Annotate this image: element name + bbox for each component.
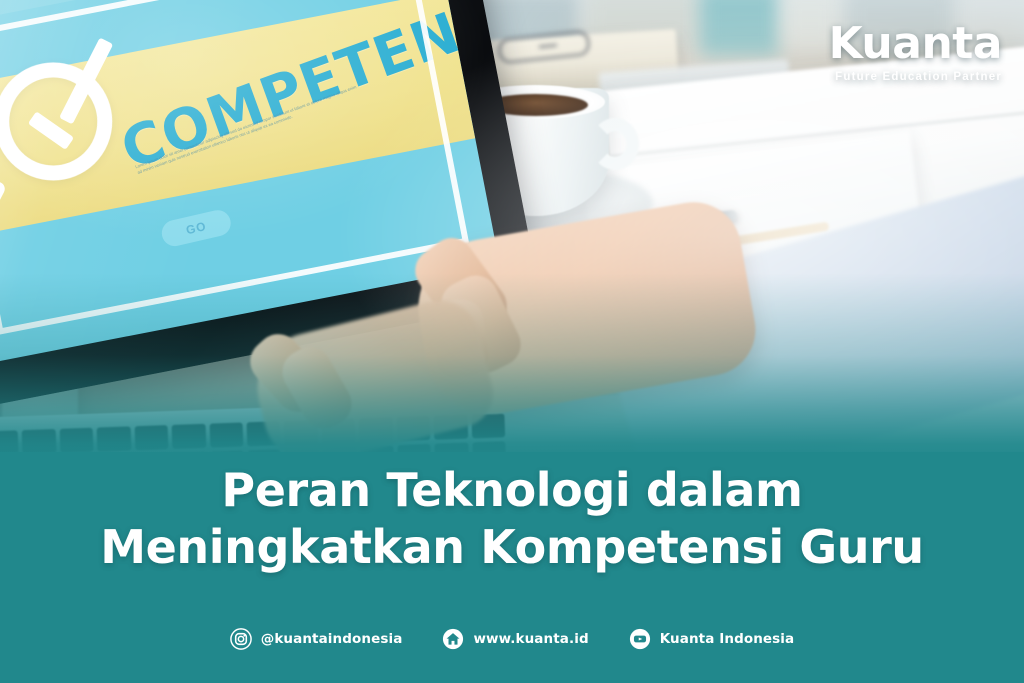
footer-item-website[interactable]: www.kuanta.id xyxy=(442,628,588,650)
poster-title: Peran Teknologi dalam Meningkatkan Kompe… xyxy=(0,462,1024,576)
brand-name: Kuanta xyxy=(829,22,1002,66)
poster-title-line-1: Peran Teknologi dalam xyxy=(28,462,996,519)
home-icon[interactable] xyxy=(442,628,464,650)
youtube-icon[interactable] xyxy=(629,628,651,650)
footer-label-instagram: @kuantaindonesia xyxy=(261,631,403,647)
brand-logo: Kuanta Future Education Partner xyxy=(829,22,1002,83)
poster-canvas: COMPETENCE Lorem ipsum dolor sit amet co… xyxy=(0,0,1024,683)
footer-social-bar: @kuantaindonesia www.kuanta.id Kuanta In… xyxy=(0,622,1024,656)
footer-label-youtube: Kuanta Indonesia xyxy=(660,631,795,647)
brand-tagline: Future Education Partner xyxy=(829,71,1002,83)
instagram-icon[interactable] xyxy=(230,628,252,650)
footer-label-website: www.kuanta.id xyxy=(473,631,588,647)
footer-item-youtube[interactable]: Kuanta Indonesia xyxy=(629,628,795,650)
footer-item-instagram[interactable]: @kuantaindonesia xyxy=(230,628,403,650)
poster-title-line-2: Meningkatkan Kompetensi Guru xyxy=(28,519,996,576)
background-shelf-block xyxy=(700,0,780,56)
cup-handle xyxy=(591,118,639,170)
